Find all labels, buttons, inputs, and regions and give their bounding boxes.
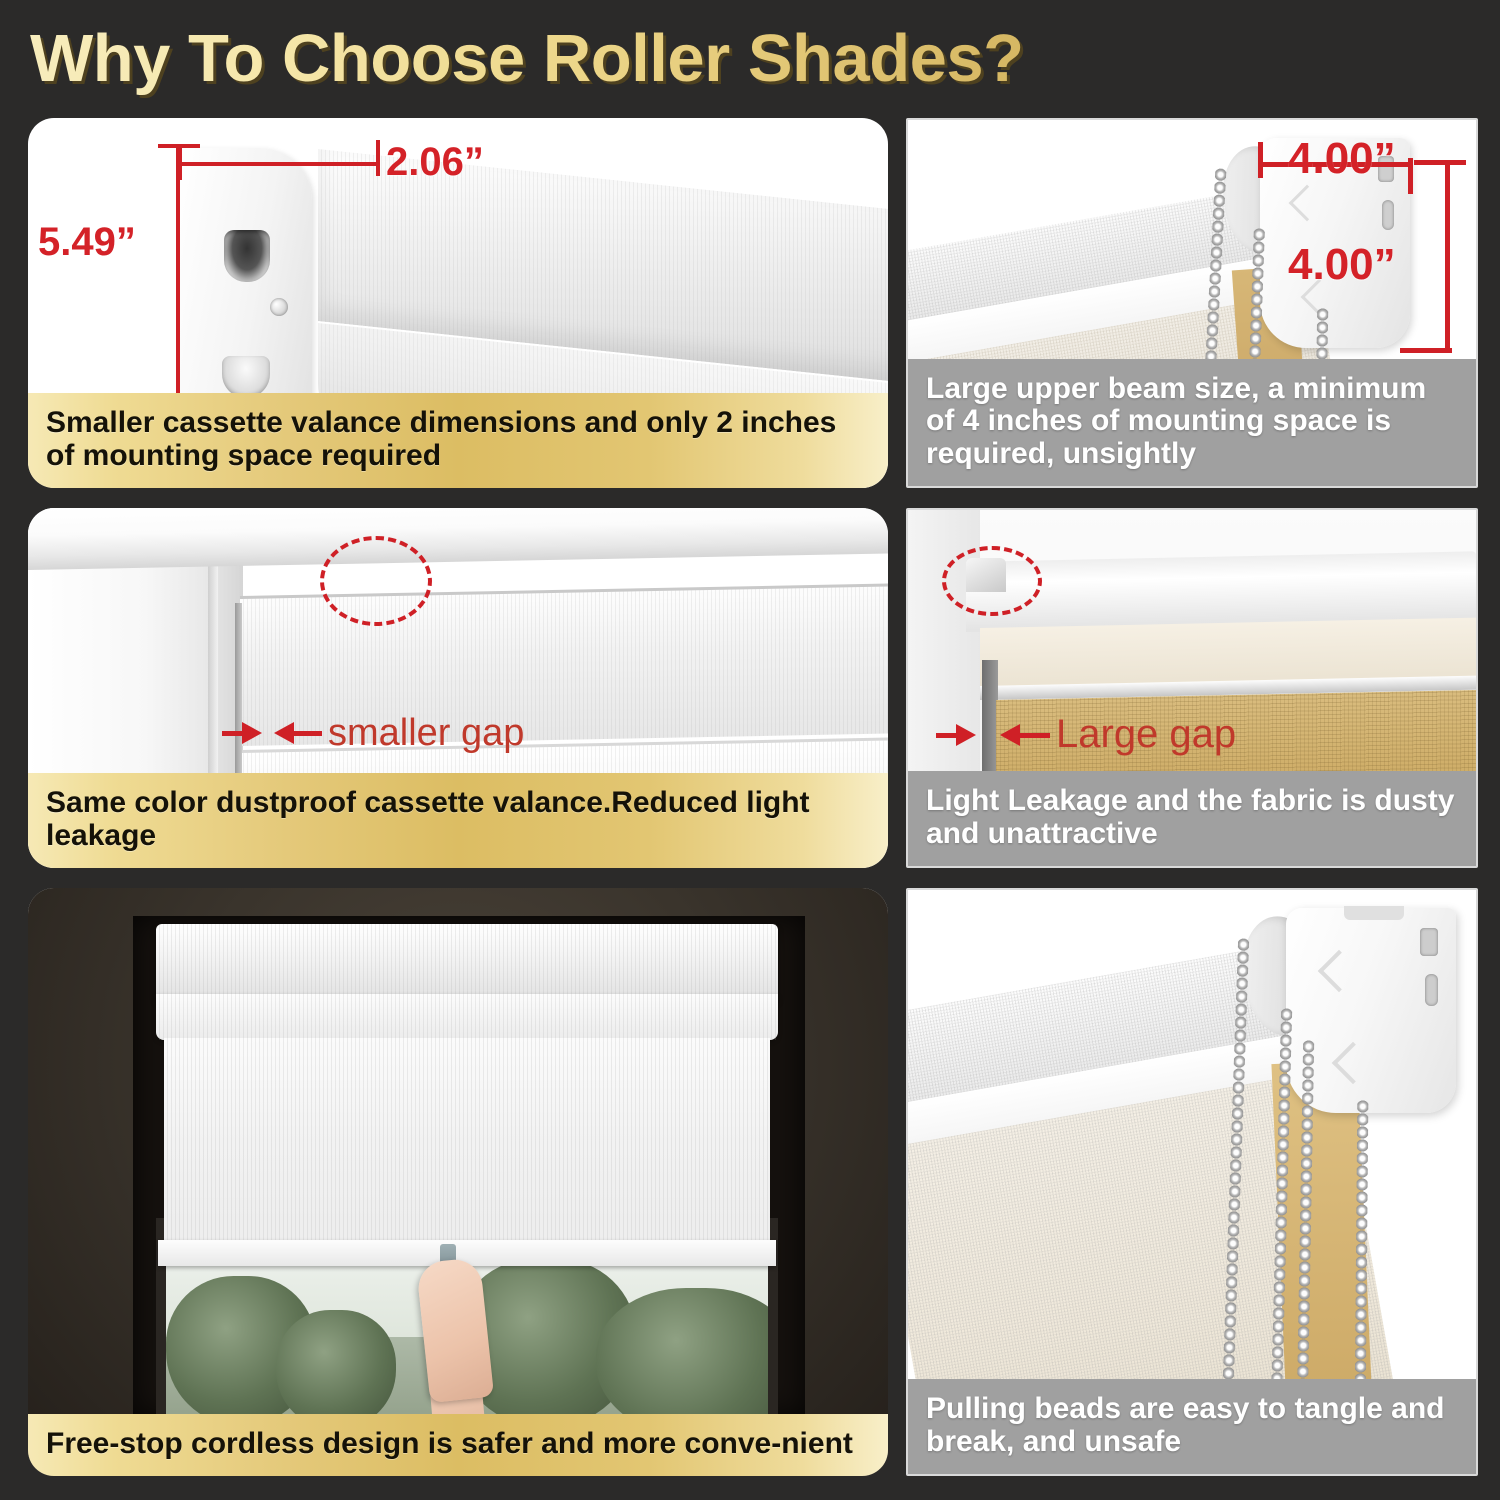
cassette-headrail [156, 924, 778, 1000]
beam-height-dim-line [1445, 162, 1450, 352]
bracket-emboss-upper [1289, 185, 1326, 222]
panel-dustproof-valance: smaller gap Same color dustproof cassett… [28, 508, 888, 868]
smaller-gap-label: smaller gap [328, 712, 524, 755]
panel-3-caption: Same color dustproof cassette valance.Re… [28, 773, 888, 868]
beam-width-label: 4.00” [1288, 134, 1396, 184]
bracket-emboss-lower [1332, 1042, 1374, 1084]
panel-2-caption: Large upper beam size, a minimum of 4 in… [908, 359, 1476, 486]
infographic-page: Why To Choose Roller Shades? Why To Choo… [0, 0, 1500, 1500]
height-dimension-label: 5.49” [38, 220, 136, 265]
panel-4-caption: Light Leakage and the fabric is dusty an… [908, 771, 1476, 866]
gap-arrow-right-head [242, 722, 262, 744]
panel-cordless-design: Free-stop cordless design is safer and m… [28, 888, 888, 1476]
panel-smaller-cassette: 2.06” 5.49” Smaller cassette valance dim… [28, 118, 888, 488]
gap-arrow-left-head [1000, 724, 1020, 746]
end-cap-knob [222, 356, 270, 398]
gap-arrow-stem-right [294, 731, 322, 736]
beam-height-tick-bottom [1400, 348, 1452, 353]
page-title: Why To Choose Roller Shades? [30, 20, 1230, 98]
large-gap-label: Large gap [1056, 712, 1236, 757]
beam-width-tick-left [1258, 142, 1263, 178]
panel-6-caption: Pulling beads are easy to tangle and bre… [908, 1379, 1476, 1474]
gap-arrow-left-head [274, 722, 294, 744]
panel-light-leakage: Large gap Light Leakage and the fabric i… [906, 508, 1478, 868]
width-dim-line [180, 162, 380, 166]
width-dimension-label: 2.06” [386, 140, 484, 185]
bracket-hole-lower [1425, 974, 1438, 1006]
tree-foliage [596, 1288, 778, 1416]
valance-end-cap [180, 148, 312, 423]
bracket-emboss-upper [1318, 950, 1360, 992]
panel-5-caption: Free-stop cordless design is safer and m… [28, 1414, 888, 1476]
width-dim-tick-right [376, 140, 380, 176]
panel-large-beam: 4.00” 4.00” Large upper beam size, a min… [906, 118, 1478, 488]
bracket-hole-upper [1420, 928, 1438, 956]
end-cap-slot [224, 230, 270, 282]
panel-5-image [28, 888, 888, 1476]
panel-1-caption: Smaller cassette valance dimensions and … [28, 393, 888, 488]
top-molding [28, 508, 888, 570]
roller-shade-fabric [164, 1038, 770, 1248]
gap-arrow-stem-left [222, 731, 244, 736]
highlight-circle [320, 536, 432, 626]
tree-foliage [276, 1310, 396, 1416]
beam-height-label: 4.00” [1288, 240, 1396, 290]
gap-arrow-right-head [956, 724, 976, 746]
gap-arrow-stem-left [936, 733, 958, 738]
bracket-hole-lower [1382, 200, 1394, 230]
valance-roll [156, 994, 778, 1040]
beam-height-tick-top [1414, 160, 1466, 165]
gap-arrow-stem-right [1020, 733, 1050, 738]
height-dim-tick-top [158, 144, 200, 148]
end-cap-screw [270, 298, 288, 316]
bracket-notch [1344, 906, 1404, 920]
beam-width-tick-right [1408, 158, 1413, 194]
panel-pulling-beads: Pulling beads are easy to tangle and bre… [906, 888, 1478, 1476]
highlight-circle [942, 546, 1042, 616]
